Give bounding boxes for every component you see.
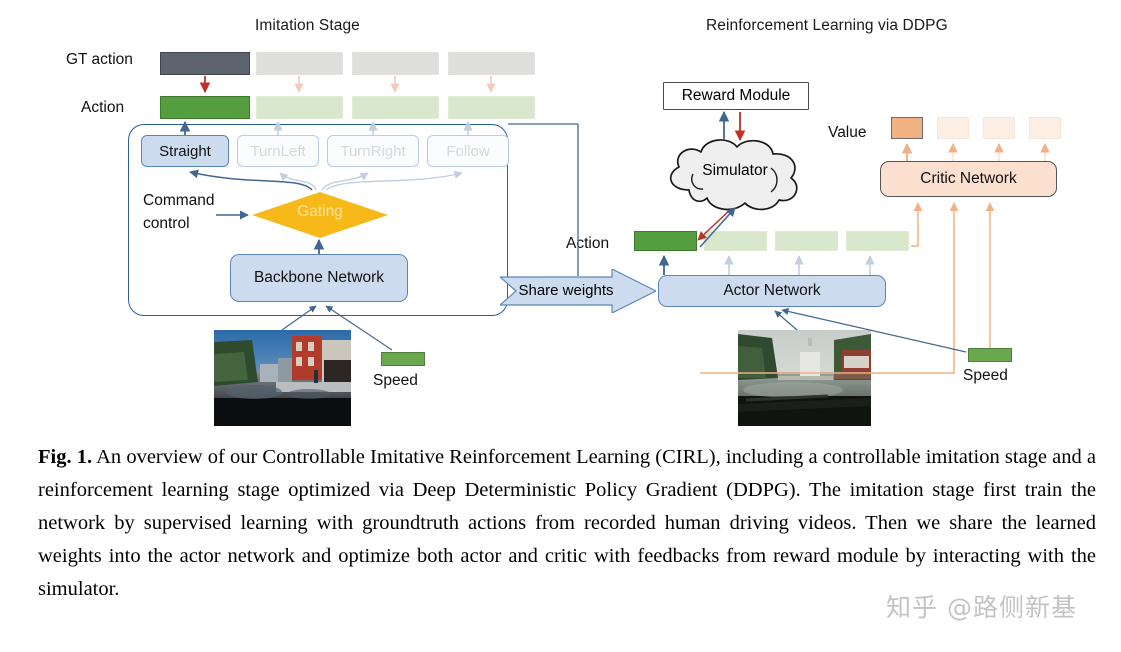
label-value: Value bbox=[828, 124, 867, 142]
gt-action-bar-active bbox=[160, 52, 250, 75]
caption-prefix: Fig. 1. bbox=[38, 446, 92, 468]
critic-network-label: Critic Network bbox=[920, 170, 1016, 188]
critic-network-box[interactable]: Critic Network bbox=[880, 161, 1057, 197]
gt-action-bar-dim-2 bbox=[352, 52, 439, 75]
caption-text: An overview of our Controllable Imitativ… bbox=[38, 446, 1096, 600]
stage-title-imitation: Imitation Stage bbox=[255, 17, 360, 35]
watermark: 知乎 @路侧新基 bbox=[886, 588, 1077, 624]
share-weights-arrow: Share weights bbox=[500, 269, 656, 313]
gating-label: Gating bbox=[252, 203, 388, 221]
value-bar-dim-2 bbox=[983, 117, 1015, 139]
gt-action-bar-dim-1 bbox=[256, 52, 343, 75]
action-bar-dim-right-3 bbox=[846, 231, 909, 251]
branch-turnright-label: TurnRight bbox=[340, 143, 405, 160]
branch-straight-label: Straight bbox=[159, 143, 211, 160]
share-weights-label: Share weights bbox=[500, 282, 632, 299]
stage-title-reinforcement: Reinforcement Learning via DDPG bbox=[706, 17, 948, 35]
action-bar-dim-left-3 bbox=[448, 96, 535, 119]
label-action-right: Action bbox=[566, 235, 609, 253]
branch-follow[interactable]: Follow bbox=[427, 135, 509, 167]
reward-module-label: Reward Module bbox=[682, 87, 791, 105]
value-bar-dim-1 bbox=[937, 117, 969, 139]
speed-bar-left bbox=[381, 352, 425, 366]
label-action-left: Action bbox=[81, 99, 124, 117]
simulator-cloud: Simulator bbox=[659, 134, 811, 212]
figure-diagram: Imitation Stage Reinforcement Learning v… bbox=[0, 0, 1121, 432]
action-bar-active-right bbox=[634, 231, 697, 251]
label-speed-right: Speed bbox=[963, 367, 1008, 385]
reward-module-box[interactable]: Reward Module bbox=[663, 82, 809, 110]
backbone-network-box[interactable]: Backbone Network bbox=[230, 254, 408, 302]
branch-turnleft-label: TurnLeft bbox=[250, 143, 305, 160]
branch-straight[interactable]: Straight bbox=[141, 135, 229, 167]
label-speed-left: Speed bbox=[373, 372, 418, 390]
input-image-right bbox=[738, 330, 871, 426]
figure-caption: Fig. 1. An overview of our Controllable … bbox=[38, 441, 1096, 606]
branch-follow-label: Follow bbox=[446, 143, 489, 160]
simulator-label: Simulator bbox=[659, 162, 811, 180]
action-bar-dim-right-2 bbox=[775, 231, 838, 251]
input-image-left bbox=[214, 330, 351, 426]
value-bar-dim-3 bbox=[1029, 117, 1061, 139]
action-bar-active-left bbox=[160, 96, 250, 119]
label-gt-action: GT action bbox=[66, 51, 133, 69]
action-bar-dim-left-2 bbox=[352, 96, 439, 119]
backbone-network-label: Backbone Network bbox=[254, 269, 384, 287]
actor-network-box[interactable]: Actor Network bbox=[658, 275, 886, 307]
label-command-control-line2: control bbox=[143, 215, 190, 233]
gt-action-bar-dim-3 bbox=[448, 52, 535, 75]
label-command-control-line1: Command bbox=[143, 192, 215, 210]
gating-node: Gating bbox=[252, 192, 388, 238]
value-bar-active bbox=[891, 117, 923, 139]
actor-network-label: Actor Network bbox=[723, 282, 820, 300]
speed-bar-right bbox=[968, 348, 1012, 362]
action-bar-dim-left-1 bbox=[256, 96, 343, 119]
branch-turnright[interactable]: TurnRight bbox=[327, 135, 419, 167]
branch-turnleft[interactable]: TurnLeft bbox=[237, 135, 319, 167]
action-bar-dim-right-1 bbox=[704, 231, 767, 251]
